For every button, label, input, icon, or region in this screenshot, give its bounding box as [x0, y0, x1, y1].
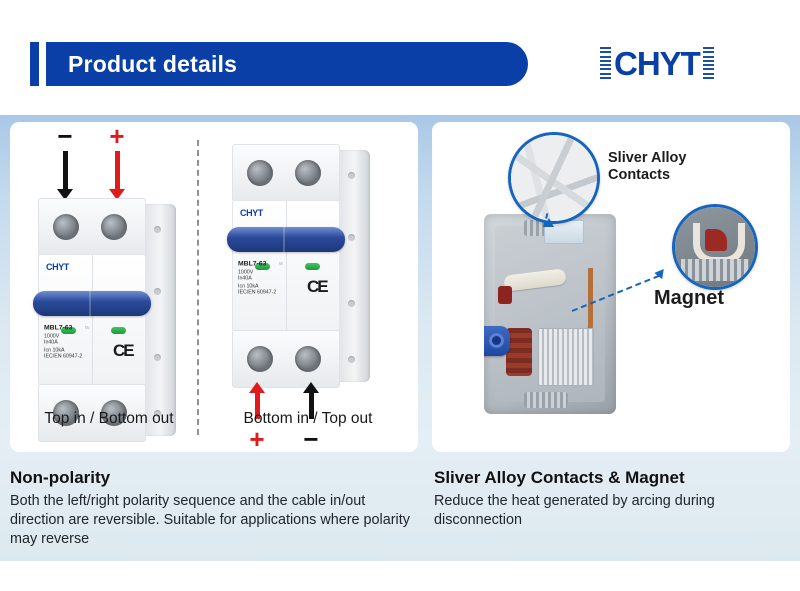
breaker-brand-label: CHYT [46, 262, 69, 272]
breaker-voltage: 1000V [238, 268, 390, 275]
figure-bottom-in-top-out: CHYT ⌇⌇ CE MBL7-63 1000V In40A Icn 10kA … [210, 130, 406, 430]
title-accent-bar [30, 42, 39, 86]
content-stage: − + [0, 115, 800, 561]
callout-sliver-alloy-contacts [508, 132, 600, 224]
breaker-rating-label: MBL7-63 1000V In40A Icn 10kA IEC/EN 6094… [44, 325, 196, 361]
callout-arrow-contacts [544, 218, 554, 227]
magnet-closeup-image [675, 207, 755, 287]
logo-wordmark: CHYT [614, 47, 700, 81]
polarity-sign: + [102, 130, 132, 142]
callout-label-line2: Contacts [608, 167, 686, 184]
logo-stripes-left [600, 47, 611, 81]
breaker-terminal-block-top [232, 144, 340, 202]
caption-body: Both the left/right polarity sequence an… [10, 492, 422, 549]
chyt-logo: CHYT [600, 44, 714, 84]
polarity-sign: + [242, 433, 272, 445]
callout-label-line1: Sliver Alloy [608, 150, 686, 167]
magnet-core [705, 229, 727, 251]
breaker-cutaway-illustration [484, 214, 616, 414]
circuit-breaker-device: CHYT ⌇⌇ CE MBL7-63 1000V In40A Icn 10kA … [232, 144, 374, 388]
callout-label-magnet: Magnet [654, 290, 724, 307]
figure-divider [197, 140, 199, 435]
breaker-terminal-block-bottom [232, 330, 340, 388]
breaker-current: In40A [238, 275, 390, 282]
panel-non-polarity: − + [10, 122, 418, 452]
breaker-breaking-capacity: Icn 10kA [238, 282, 390, 289]
magnet-pins [681, 259, 749, 281]
breaker-front-body: CHYT ⌇⌇ CE MBL7-63 1000V In40A Icn 10kA … [38, 198, 146, 442]
breaker-face: CHYT ⌇⌇ CE MBL7-63 1000V In40A Icn 10kA … [38, 254, 146, 386]
breaker-toggle-lever[interactable] [484, 326, 510, 356]
logo-stripes-right [703, 47, 714, 81]
silver-alloy-chips-image [511, 135, 597, 221]
breaker-front-body: CHYT ⌇⌇ CE MBL7-63 1000V In40A Icn 10kA … [232, 144, 340, 388]
breaker-breaking-capacity: Icn 10kA [44, 346, 196, 353]
contact-assembly [498, 286, 512, 304]
caption-title: Sliver Alloy Contacts & Magnet [434, 468, 794, 488]
breaker-current: In40A [44, 339, 196, 346]
breaker-model: MBL7-63 [238, 261, 390, 268]
caption-body: Reduce the heat generated by arcing duri… [434, 492, 794, 530]
figure-caption: Top in / Bottom out [24, 410, 194, 428]
breaker-model: MBL7-63 [44, 325, 196, 332]
figure-top-in-bottom-out: − + [24, 130, 194, 430]
callout-magnet [672, 204, 758, 290]
polarity-sign: − [50, 130, 80, 142]
breaker-brand-label: CHYT [240, 208, 263, 218]
caption-title: Non-polarity [10, 468, 422, 488]
caption-contacts-magnet: Sliver Alloy Contacts & Magnet Reduce th… [434, 468, 794, 530]
breaker-voltage: 1000V [44, 332, 196, 339]
polarity-sign: − [296, 433, 326, 445]
page-title: Product details [68, 42, 237, 86]
mounting-screw-bottom [524, 392, 568, 408]
breaker-standard: IEC/EN 60947-2 [44, 353, 196, 360]
caption-non-polarity: Non-polarity Both the left/right polarit… [10, 468, 422, 549]
panel-contacts-magnet: Sliver Alloy Contacts Magnet [432, 122, 790, 452]
title-banner: Product details [46, 42, 528, 86]
breaker-standard: IEC/EN 60947-2 [238, 289, 390, 296]
polarity-mark-positive-top: + [102, 130, 132, 200]
figure-caption: Bottom in / Top out [210, 410, 406, 428]
breaker-terminal-block-top [38, 198, 146, 256]
callout-label-sliver-alloy-contacts: Sliver Alloy Contacts [608, 150, 686, 184]
breaker-rating-label: MBL7-63 1000V In40A Icn 10kA IEC/EN 6094… [238, 261, 390, 297]
breaker-side-housing [142, 204, 176, 436]
circuit-breaker-device: CHYT ⌇⌇ CE MBL7-63 1000V In40A Icn 10kA … [38, 198, 180, 442]
breaker-toggle-lever[interactable] [227, 227, 345, 252]
page-header: Product details CHYT [0, 0, 800, 115]
arc-splitter-fins [538, 328, 594, 386]
polarity-mark-negative-top: − [50, 130, 80, 200]
breaker-toggle-lever[interactable] [33, 291, 151, 316]
breaker-face: CHYT ⌇⌇ CE MBL7-63 1000V In40A Icn 10kA … [232, 200, 340, 332]
